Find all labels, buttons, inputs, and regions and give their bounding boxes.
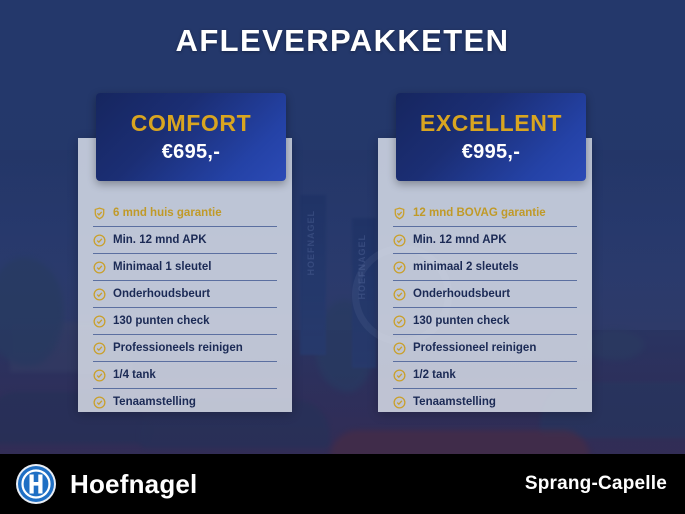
feature-list-comfort: 6 mnd huis garantie Min. 12 mnd APK Mini…: [93, 200, 277, 415]
circle-check-icon: [393, 234, 406, 247]
feature-item: Min. 12 mnd APK: [393, 227, 577, 254]
feature-label: 6 mnd huis garantie: [113, 207, 222, 219]
package-name: COMFORT: [131, 110, 251, 137]
brand-block: Hoefnagel: [14, 462, 197, 506]
feature-label: Professioneel reinigen: [413, 342, 536, 354]
package-price: €995,-: [462, 141, 521, 164]
feature-label: 1/4 tank: [113, 369, 156, 381]
circle-check-icon: [393, 342, 406, 355]
feature-item: Tenaamstelling: [393, 389, 577, 415]
circle-check-icon: [393, 261, 406, 274]
feature-label: 1/2 tank: [413, 369, 456, 381]
circle-check-icon: [93, 261, 106, 274]
page-title: AFLEVERPAKKETEN: [0, 23, 685, 59]
feature-label: Tenaamstelling: [113, 396, 196, 408]
feature-item: 6 mnd huis garantie: [93, 200, 277, 227]
feature-label: Min. 12 mnd APK: [113, 234, 207, 246]
package-header-comfort: COMFORT €695,-: [96, 93, 286, 181]
circle-check-icon: [393, 288, 406, 301]
circle-check-icon: [393, 315, 406, 328]
feature-label: minimaal 2 sleutels: [413, 261, 518, 273]
brand-name: Hoefnagel: [70, 469, 197, 500]
circle-check-icon: [93, 396, 106, 409]
package-card-excellent: EXCELLENT €995,- 12 mnd BOVAG garantie M…: [378, 138, 592, 412]
feature-label: 130 punten check: [113, 315, 210, 327]
feature-item: 12 mnd BOVAG garantie: [393, 200, 577, 227]
circle-check-icon: [93, 342, 106, 355]
feature-label: 130 punten check: [413, 315, 510, 327]
package-header-excellent: EXCELLENT €995,-: [396, 93, 586, 181]
feature-item: 130 punten check: [93, 308, 277, 335]
circle-check-icon: [93, 369, 106, 382]
shield-check-icon: [393, 207, 406, 220]
hoefnagel-logo-icon: [14, 462, 58, 506]
feature-label: Professioneels reinigen: [113, 342, 243, 354]
feature-item: Min. 12 mnd APK: [93, 227, 277, 254]
circle-check-icon: [93, 288, 106, 301]
feature-item: Tenaamstelling: [93, 389, 277, 415]
feature-item: 130 punten check: [393, 308, 577, 335]
feature-label: Onderhoudsbeurt: [113, 288, 210, 300]
circle-check-icon: [93, 315, 106, 328]
circle-check-icon: [393, 396, 406, 409]
feature-label: Onderhoudsbeurt: [413, 288, 510, 300]
shield-check-icon: [93, 207, 106, 220]
circle-check-icon: [393, 369, 406, 382]
feature-label: 12 mnd BOVAG garantie: [413, 207, 546, 219]
feature-item: Professioneels reinigen: [93, 335, 277, 362]
feature-item: Onderhoudsbeurt: [393, 281, 577, 308]
footer-location: Sprang-Capelle: [525, 473, 667, 495]
feature-label: Minimaal 1 sleutel: [113, 261, 211, 273]
package-name: EXCELLENT: [420, 110, 562, 137]
feature-list-excellent: 12 mnd BOVAG garantie Min. 12 mnd APK mi…: [393, 200, 577, 415]
feature-item: minimaal 2 sleutels: [393, 254, 577, 281]
circle-check-icon: [93, 234, 106, 247]
feature-item: Onderhoudsbeurt: [93, 281, 277, 308]
feature-label: Tenaamstelling: [413, 396, 496, 408]
package-card-comfort: COMFORT €695,- 6 mnd huis garantie Min. …: [78, 138, 292, 412]
package-price: €695,-: [162, 141, 221, 164]
feature-item: 1/2 tank: [393, 362, 577, 389]
feature-item: 1/4 tank: [93, 362, 277, 389]
feature-item: Minimaal 1 sleutel: [93, 254, 277, 281]
feature-item: Professioneel reinigen: [393, 335, 577, 362]
feature-label: Min. 12 mnd APK: [413, 234, 507, 246]
promo-slide: HOEFNAGEL HOEFNAGEL AFLEVERPAKKETEN COMF…: [0, 0, 685, 514]
footer-bar: Hoefnagel Sprang-Capelle: [0, 454, 685, 514]
